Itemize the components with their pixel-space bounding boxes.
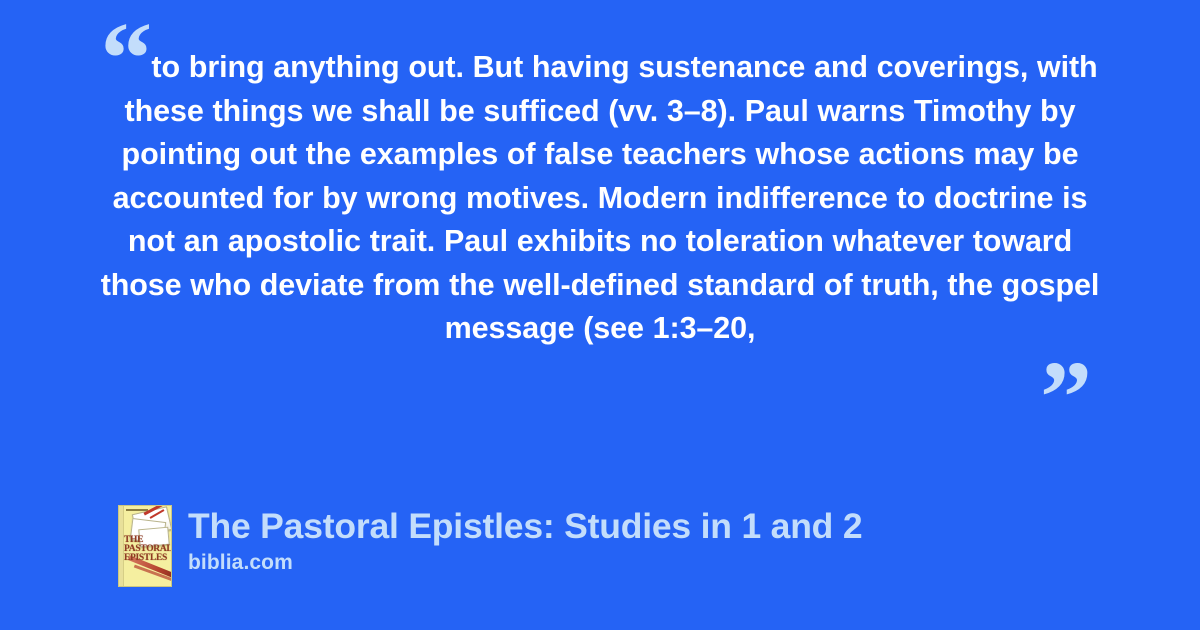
cover-title-line-3: EPISTLES [124, 554, 168, 563]
quote-body: to bring anything out. But having susten… [101, 50, 1100, 345]
footer-text-group: The Pastoral Epistles: Studies in 1 and … [188, 505, 862, 576]
close-quote-container: ” [1034, 338, 1154, 428]
quote-text: “to bring anything out. But having suste… [95, 46, 1105, 351]
cover-title: THE PASTORAL EPISTLES [124, 536, 168, 564]
quote-card: “to bring anything out. But having suste… [0, 0, 1200, 630]
quote-block: “to bring anything out. But having suste… [0, 46, 1200, 351]
book-title: The Pastoral Epistles: Studies in 1 and … [188, 506, 862, 547]
book-cover-thumbnail: THE PASTORAL EPISTLES [118, 505, 172, 587]
footer: THE PASTORAL EPISTLES The Pastoral Epist… [118, 505, 862, 587]
site-name[interactable]: biblia.com [188, 550, 862, 576]
